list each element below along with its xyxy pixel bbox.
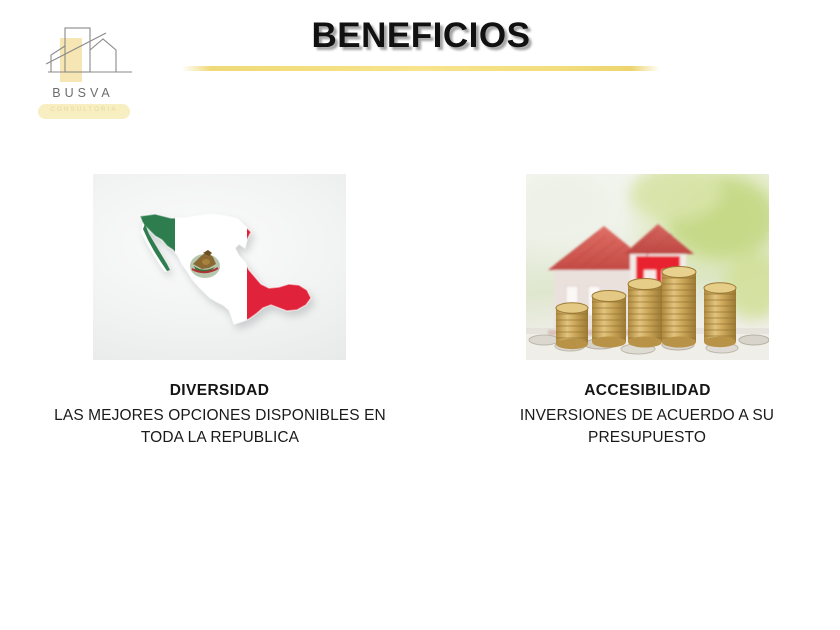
benefit-caption-accesibilidad: ACCESIBILIDAD INVERSIONES DE ACUERDO A S… [526, 383, 769, 449]
benefit-description: LAS MEJORES OPCIONES DISPONIBLES EN TODA… [31, 405, 409, 449]
brand-logo: BUSVA CONSULTORIA [28, 24, 138, 124]
benefit-heading: ACCESIBILIDAD [526, 383, 769, 399]
page-title: BENEFICIOS [182, 18, 660, 53]
title-underline-rule [182, 66, 660, 71]
logo-tagline-highlight: CONSULTORIA [38, 104, 130, 119]
logo-brand-name: BUSVA [28, 86, 138, 100]
building-outline-icon [36, 24, 132, 86]
benefit-caption-diversidad: DIVERSIDAD LAS MEJORES OPCIONES DISPONIB… [93, 383, 346, 449]
benefit-description: INVERSIONES DE ACUERDO A SU PRESUPUESTO [497, 405, 797, 449]
mexico-map-flag-image [93, 174, 346, 360]
house-with-coin-stacks-image [526, 174, 769, 360]
benefit-card-diversidad: DIVERSIDAD LAS MEJORES OPCIONES DISPONIB… [93, 174, 346, 449]
logo-tagline: CONSULTORIA [38, 106, 130, 113]
benefit-heading: DIVERSIDAD [93, 383, 346, 399]
benefit-card-accesibilidad: ACCESIBILIDAD INVERSIONES DE ACUERDO A S… [526, 174, 769, 449]
